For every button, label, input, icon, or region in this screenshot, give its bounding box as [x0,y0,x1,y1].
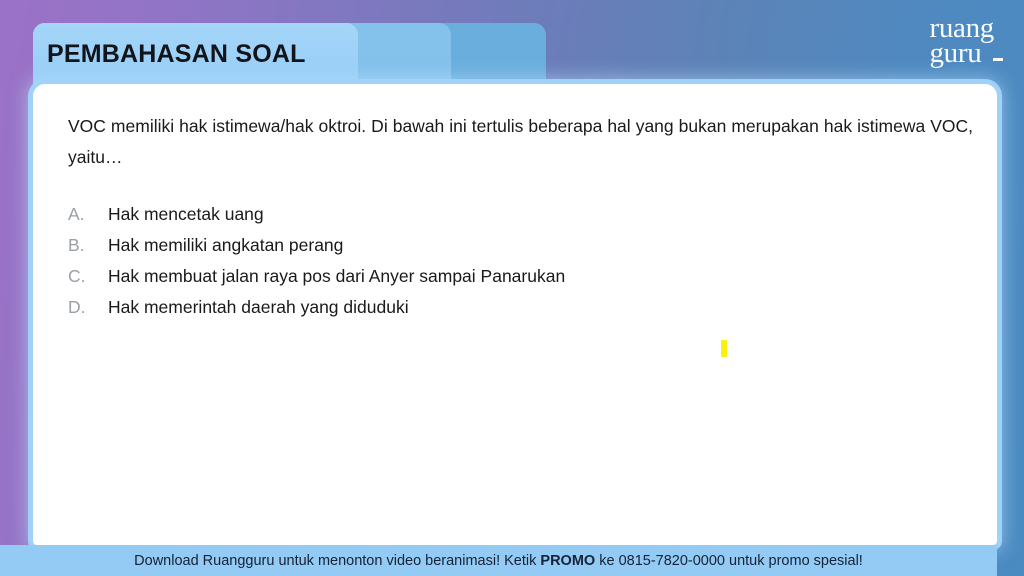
ruangguru-logo: ruang guru [929,16,994,66]
slide-root: PEMBAHASAN SOAL ruang guru VOC memiliki … [0,0,1024,576]
option-letter: A. [68,204,108,225]
option-letter: D. [68,297,108,318]
promo-keyword: PROMO [540,553,595,569]
option-label: Hak memiliki angkatan perang [108,235,343,256]
logo-line-2: guru [929,41,994,66]
promo-suffix: untuk promo spesial! [725,553,863,569]
option-label: Hak memerintah daerah yang diduduki [108,297,409,318]
option-label: Hak membuat jalan raya pos dari Anyer sa… [108,266,565,287]
yellow-highlight-marker [721,340,727,357]
option-b[interactable]: B. Hak memiliki angkatan perang [68,235,958,261]
tab-active[interactable]: PEMBAHASAN SOAL [33,23,358,85]
promo-prefix: Download Ruangguru untuk menonton video … [134,553,540,569]
promo-number: 0815-7820-0000 [619,553,725,569]
option-letter: B. [68,235,108,256]
option-c[interactable]: C. Hak membuat jalan raya pos dari Anyer… [68,266,958,292]
page-title: PEMBAHASAN SOAL [47,40,306,69]
header-tab-stack: PEMBAHASAN SOAL [33,23,553,85]
promo-banner-text: Download Ruangguru untuk menonton video … [134,553,863,569]
option-d[interactable]: D. Hak memerintah daerah yang diduduki [68,297,958,323]
promo-banner: Download Ruangguru untuk menonton video … [0,545,997,576]
question-text: VOC memiliki hak istimewa/hak oktroi. Di… [68,111,973,173]
content-card: VOC memiliki hak istimewa/hak oktroi. Di… [33,84,997,545]
option-a[interactable]: A. Hak mencetak uang [68,204,958,230]
option-letter: C. [68,266,108,287]
promo-middle: ke [595,553,618,569]
option-label: Hak mencetak uang [108,204,264,225]
answer-options-list: A. Hak mencetak uang B. Hak memiliki ang… [68,204,958,328]
